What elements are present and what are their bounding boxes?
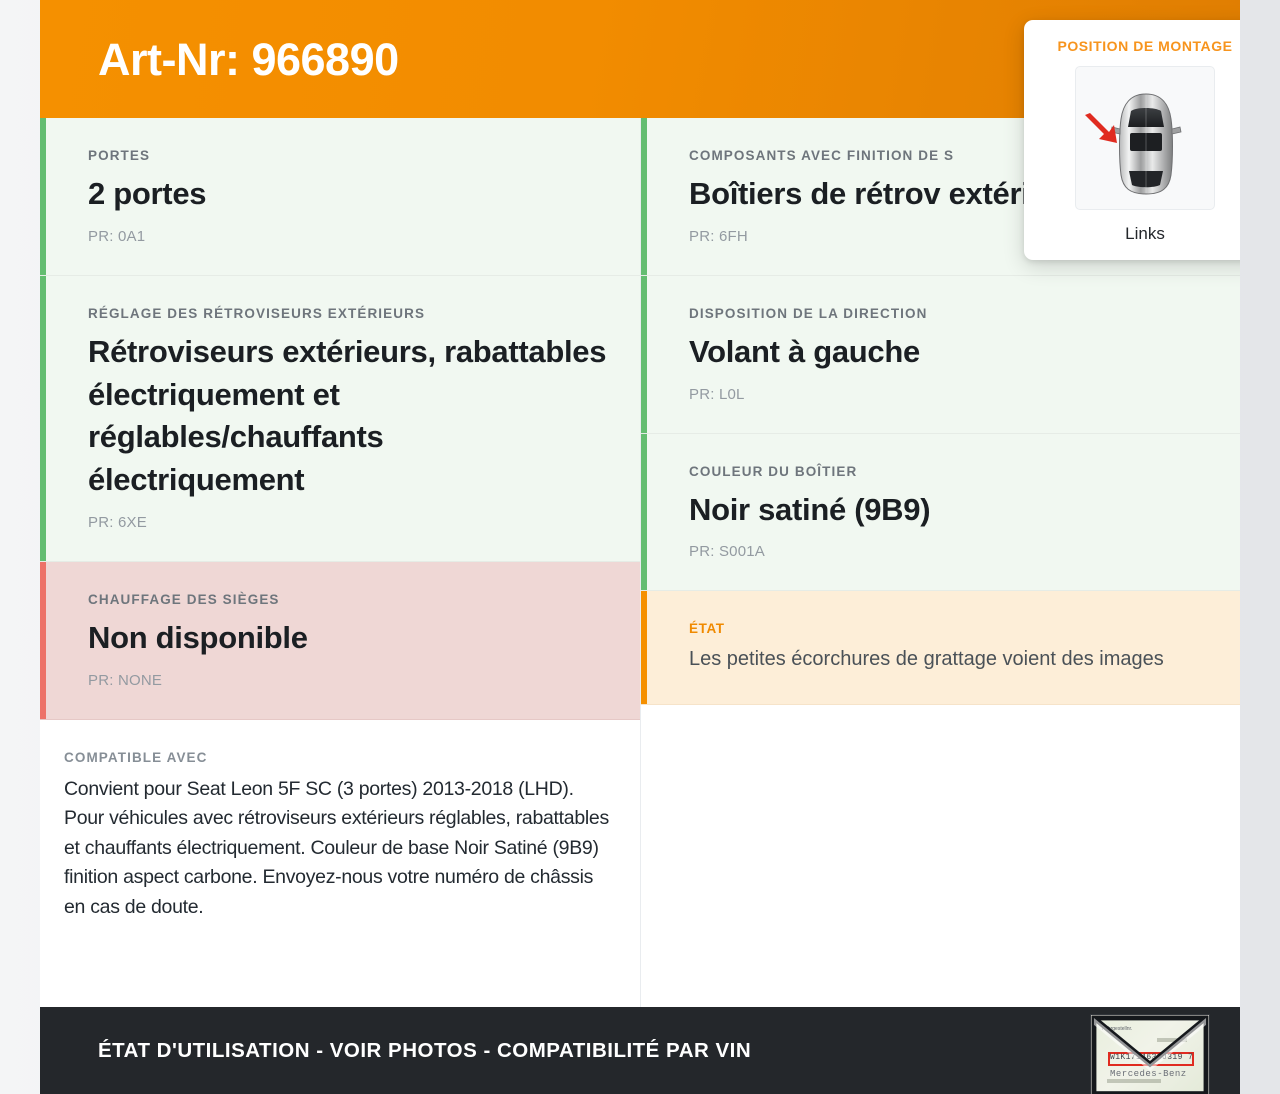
spec-row-seat-heating: CHAUFFAGE DES SIÈGES Non disponible PR: … <box>40 562 640 720</box>
product-spec-sheet: Art-Nr: 966890 PORTES 2 portes PR: 0A1 R… <box>40 0 1240 1094</box>
mounting-position-caption: Links <box>1040 224 1240 244</box>
spec-pr-code: PR: L0L <box>689 386 1210 403</box>
mounting-position-card[interactable]: POSITION DE MONTAGE <box>1024 20 1240 260</box>
spec-row-portes: PORTES 2 portes PR: 0A1 <box>40 118 640 276</box>
spec-value: Noir satiné (9B9) <box>689 489 1210 532</box>
spec-value: Rétroviseurs extérieurs, rabattables éle… <box>88 331 608 502</box>
spec-value: 2 portes <box>88 173 610 216</box>
spec-value: Convient pour Seat Leon 5F SC (3 portes)… <box>64 775 610 923</box>
spec-label: CHAUFFAGE DES SIÈGES <box>88 592 610 607</box>
spec-pr-code: PR: 0A1 <box>88 228 610 245</box>
spec-label: COMPATIBLE AVEC <box>64 750 610 765</box>
spec-value: Non disponible <box>88 617 610 660</box>
envelope-icon <box>1091 1015 1209 1094</box>
spec-label: COULEUR DU BOÎTIER <box>689 464 1210 479</box>
spec-row-compatible-with: COMPATIBLE AVEC Convient pour Seat Leon … <box>40 720 640 953</box>
spec-pr-code: PR: NONE <box>88 672 610 689</box>
page-title: Art-Nr: 966890 <box>98 37 399 82</box>
spec-row-housing-colour: COULEUR DU BOÎTIER Noir satiné (9B9) PR:… <box>641 434 1240 592</box>
left-spec-column: PORTES 2 portes PR: 0A1 RÉGLAGE DES RÉTR… <box>40 118 640 1007</box>
spec-pr-code: PR: S001A <box>689 543 1210 560</box>
spec-label: ÉTAT <box>689 621 1210 636</box>
spec-label: RÉGLAGE DES RÉTROVISEURS EXTÉRIEURS <box>88 306 610 321</box>
spec-row-condition: ÉTAT Les petites écorchures de grattage … <box>641 591 1240 705</box>
spec-value: Les petites écorchures de grattage voien… <box>689 646 1210 674</box>
spec-row-mirror-adjustment: RÉGLAGE DES RÉTROVISEURS EXTÉRIEURS Rétr… <box>40 276 640 562</box>
spec-label: DISPOSITION DE LA DIRECTION <box>689 306 1210 321</box>
spec-pr-code: PR: 6XE <box>88 514 610 531</box>
spec-value: Volant à gauche <box>689 331 1210 374</box>
footer-banner-text: ÉTAT D'UTILISATION - VOIR PHOTOS - COMPA… <box>98 1039 751 1063</box>
page-footer: ÉTAT D'UTILISATION - VOIR PHOTOS - COMPA… <box>40 1007 1240 1094</box>
car-top-view-icon <box>1075 66 1215 210</box>
spec-label: PORTES <box>88 148 610 163</box>
car-diagram-svg <box>1076 67 1216 211</box>
mounting-position-title: POSITION DE MONTAGE <box>1040 38 1240 54</box>
red-arrow-icon <box>1085 113 1117 143</box>
spec-row-steering-layout: DISPOSITION DE LA DIRECTION Volant à gau… <box>641 276 1240 434</box>
car-body <box>1111 94 1181 194</box>
envelope-over-vehicle-registration-icon[interactable]: Fahrgestellnr. W1K1714633J319 7 Mercedes… <box>1090 1014 1210 1094</box>
